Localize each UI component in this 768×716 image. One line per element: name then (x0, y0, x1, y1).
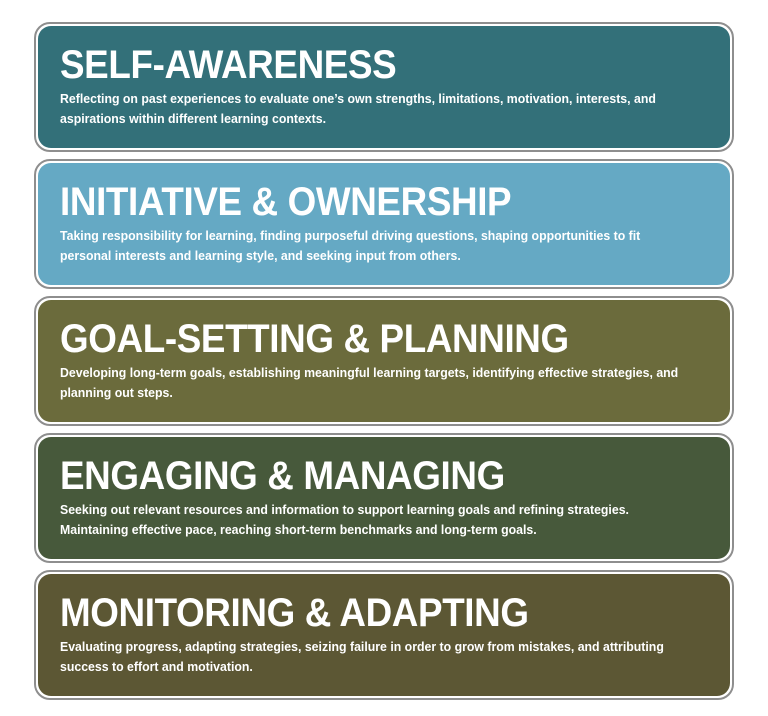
card-frame-monitoring-adapting: MONITORING & ADAPTING Evaluating progres… (34, 570, 734, 700)
card-title: ENGAGING & MANAGING (60, 456, 660, 497)
card-frame-goal-setting-planning: GOAL-SETTING & PLANNING Developing long-… (34, 296, 734, 426)
competency-card-engaging-managing: ENGAGING & MANAGING Seeking out relevant… (38, 437, 730, 559)
competency-card-goal-setting-planning: GOAL-SETTING & PLANNING Developing long-… (38, 300, 730, 422)
card-title: SELF-AWARENESS (60, 45, 660, 86)
card-frame-self-awareness: SELF-AWARENESS Reflecting on past experi… (34, 22, 734, 152)
competency-card-initiative-ownership: INITIATIVE & OWNERSHIP Taking responsibi… (38, 163, 730, 285)
competency-card-self-awareness: SELF-AWARENESS Reflecting on past experi… (38, 26, 730, 148)
card-description: Seeking out relevant resources and infor… (60, 501, 692, 540)
card-description: Developing long-term goals, establishing… (60, 364, 692, 403)
card-frame-initiative-ownership: INITIATIVE & OWNERSHIP Taking responsibi… (34, 159, 734, 289)
card-description: Taking responsibility for learning, find… (60, 227, 692, 266)
card-title: GOAL-SETTING & PLANNING (60, 319, 660, 360)
card-description: Evaluating progress, adapting strategies… (60, 638, 692, 677)
card-frame-engaging-managing: ENGAGING & MANAGING Seeking out relevant… (34, 433, 734, 563)
card-title: INITIATIVE & OWNERSHIP (60, 182, 660, 223)
competency-card-monitoring-adapting: MONITORING & ADAPTING Evaluating progres… (38, 574, 730, 696)
card-description: Reflecting on past experiences to evalua… (60, 90, 692, 129)
competency-card-stack: SELF-AWARENESS Reflecting on past experi… (0, 0, 768, 716)
card-title: MONITORING & ADAPTING (60, 593, 660, 634)
